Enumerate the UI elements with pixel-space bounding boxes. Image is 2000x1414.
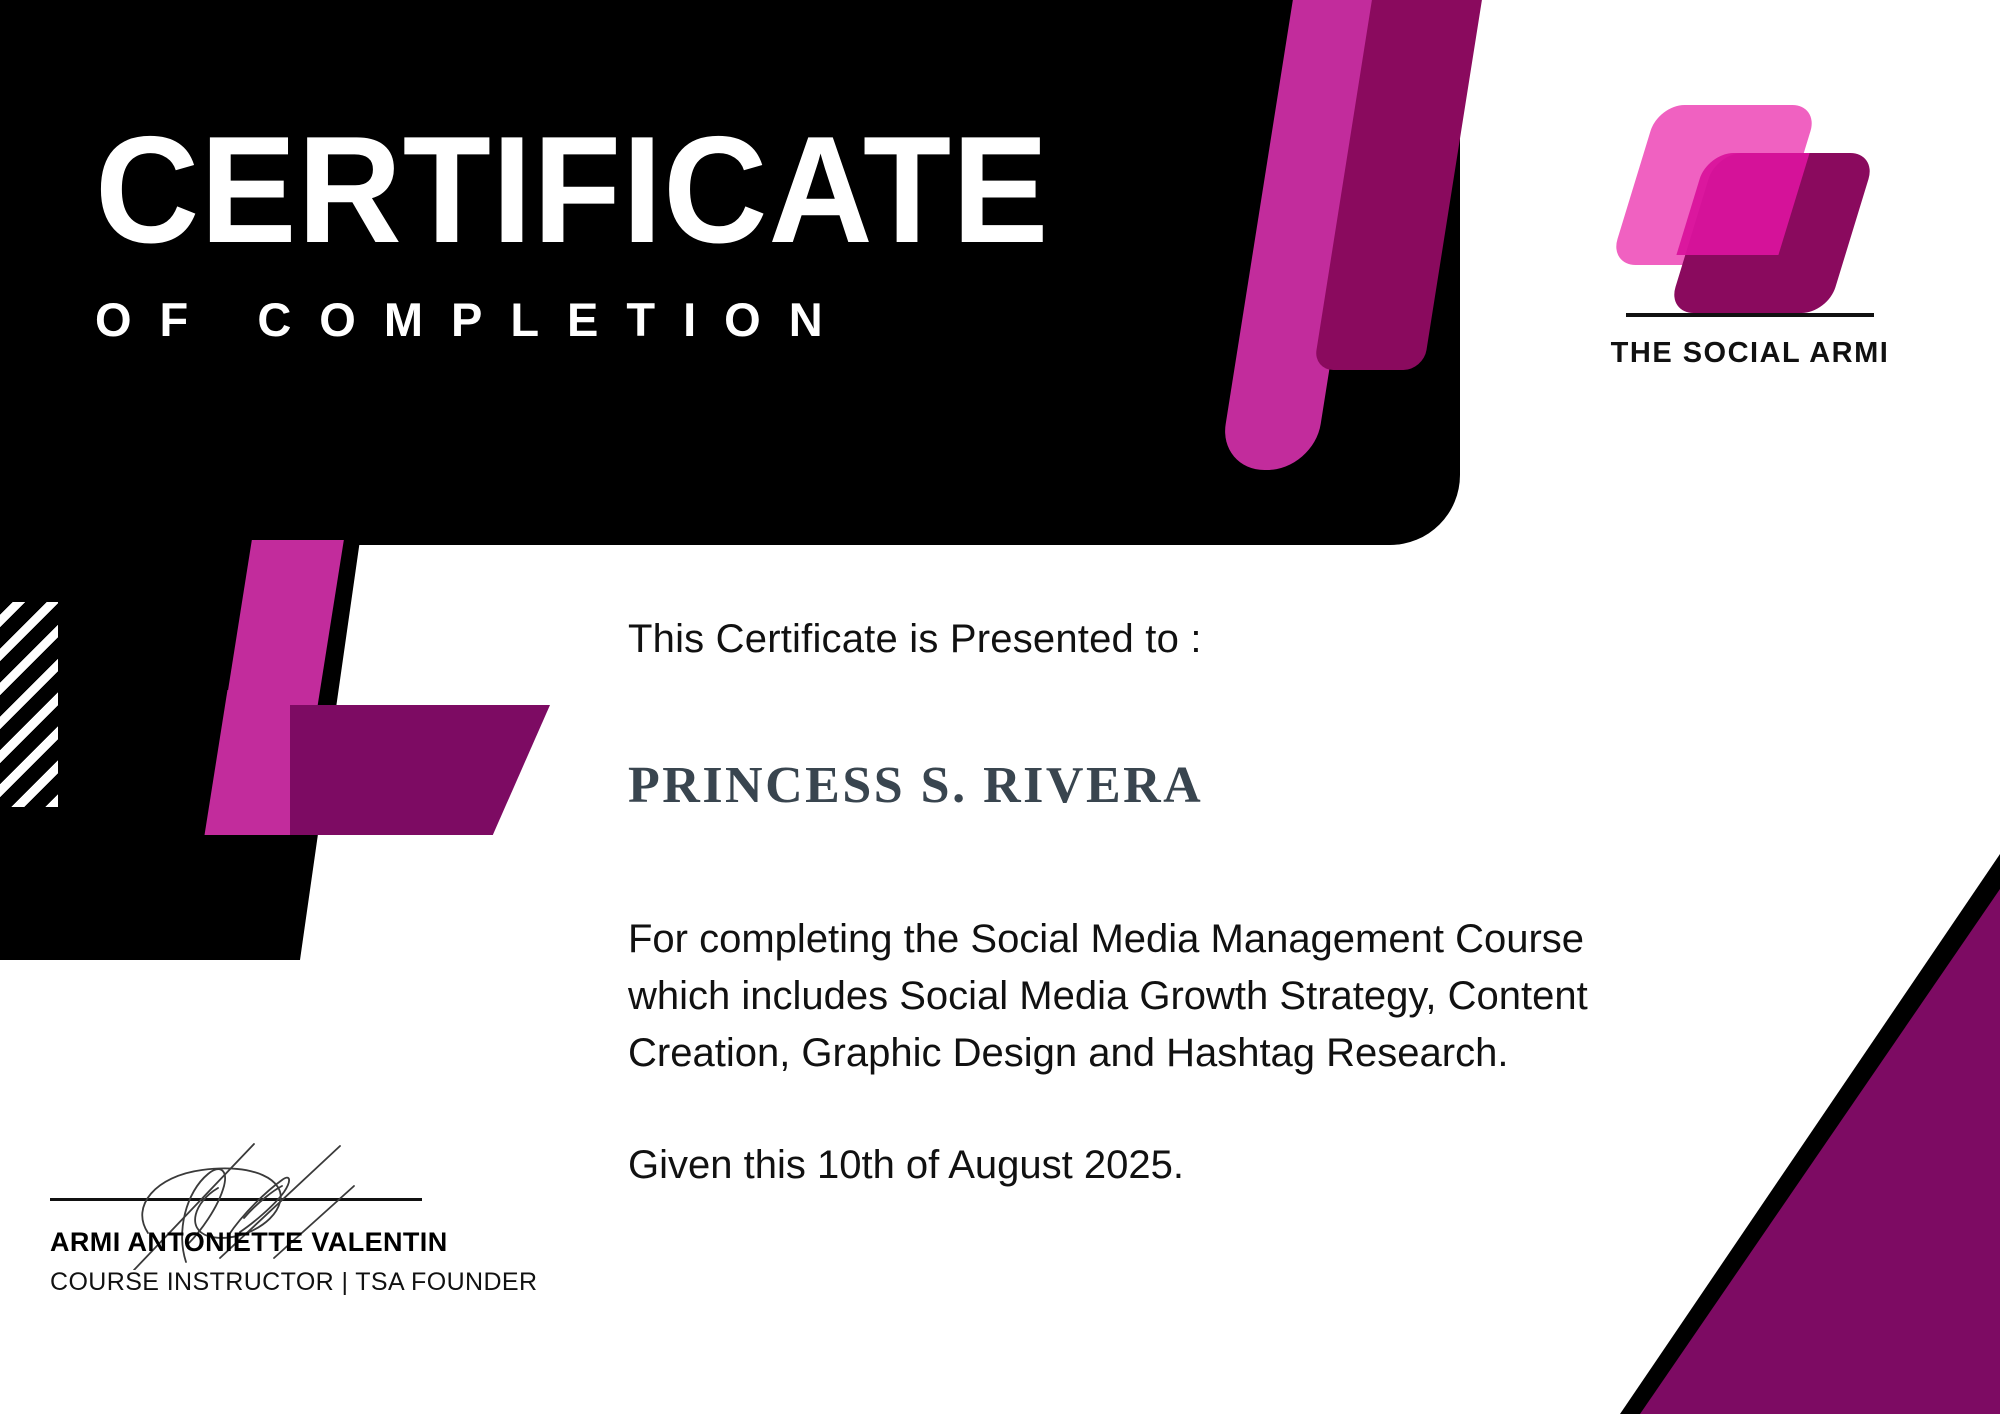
signature-block: ARMI ANTONIETTE VALENTIN COURSE INSTRUCT… xyxy=(50,1140,490,1297)
presented-to-label: This Certificate is Presented to : xyxy=(628,617,1708,662)
certificate-canvas: CERTIFICATE OF COMPLETION THE SOCIAL ARM… xyxy=(0,0,2000,1414)
certificate-header: CERTIFICATE OF COMPLETION xyxy=(95,118,1100,347)
logo-divider-rule xyxy=(1626,313,1874,317)
certificate-title: CERTIFICATE xyxy=(95,118,1049,262)
logo-brand-name: THE SOCIAL ARMI xyxy=(1605,337,1895,370)
certificate-subtitle: OF COMPLETION xyxy=(95,292,1100,347)
purple-flag-shape xyxy=(290,705,550,835)
course-description: For completing the Social Media Manageme… xyxy=(628,911,1658,1081)
signatory-name: ARMI ANTONIETTE VALENTIN xyxy=(50,1227,490,1258)
issue-date: Given this 10th of August 2025. xyxy=(628,1143,1708,1188)
diagonal-hatch-pattern xyxy=(0,602,58,807)
certificate-body: This Certificate is Presented to : PRINC… xyxy=(628,617,1708,1188)
logo-mark-icon xyxy=(1620,95,1880,305)
recipient-name: PRINCESS S. RIVERA xyxy=(628,756,1708,815)
signatory-role: COURSE INSTRUCTOR | TSA FOUNDER xyxy=(50,1268,490,1297)
brand-logo: THE SOCIAL ARMI xyxy=(1605,95,1895,370)
signature-line xyxy=(50,1198,422,1201)
